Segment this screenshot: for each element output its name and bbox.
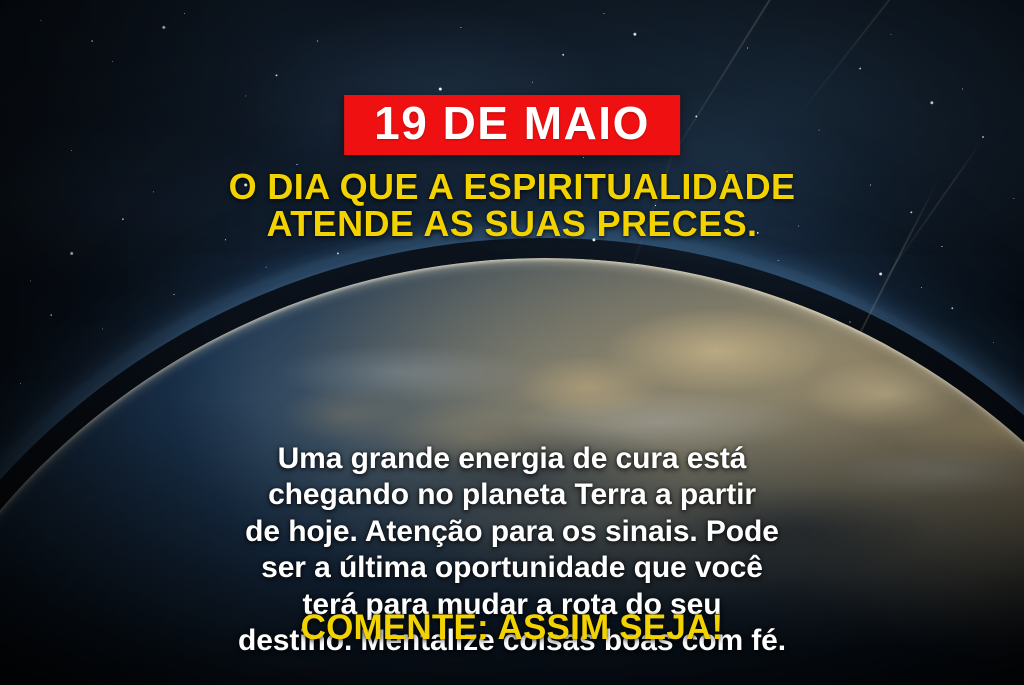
date-banner: 19 DE MAIO: [344, 95, 680, 155]
body-line-2: chegando no planeta Terra a partir: [38, 477, 986, 513]
body-line-1: Uma grande energia de cura está: [38, 441, 986, 477]
headline-line-2: ATENDE AS SUAS PRECES.: [40, 205, 984, 242]
headline-line-1: O DIA QUE A ESPIRITUALIDADE: [40, 168, 984, 205]
call-to-action: COMENTE: ASSIM SEJA!: [0, 610, 1024, 645]
cta-text: COMENTE: ASSIM SEJA!: [301, 608, 724, 647]
poster-content: 19 DE MAIO O DIA QUE A ESPIRITUALIDADE A…: [0, 0, 1024, 685]
body-line-3: de hoje. Atenção para os sinais. Pode: [38, 514, 986, 550]
date-banner-text: 19 DE MAIO: [374, 100, 650, 146]
body-line-4: ser a última oportunidade que você: [38, 550, 986, 586]
headline: O DIA QUE A ESPIRITUALIDADE ATENDE AS SU…: [0, 168, 1024, 242]
poster-canvas: 19 DE MAIO O DIA QUE A ESPIRITUALIDADE A…: [0, 0, 1024, 685]
